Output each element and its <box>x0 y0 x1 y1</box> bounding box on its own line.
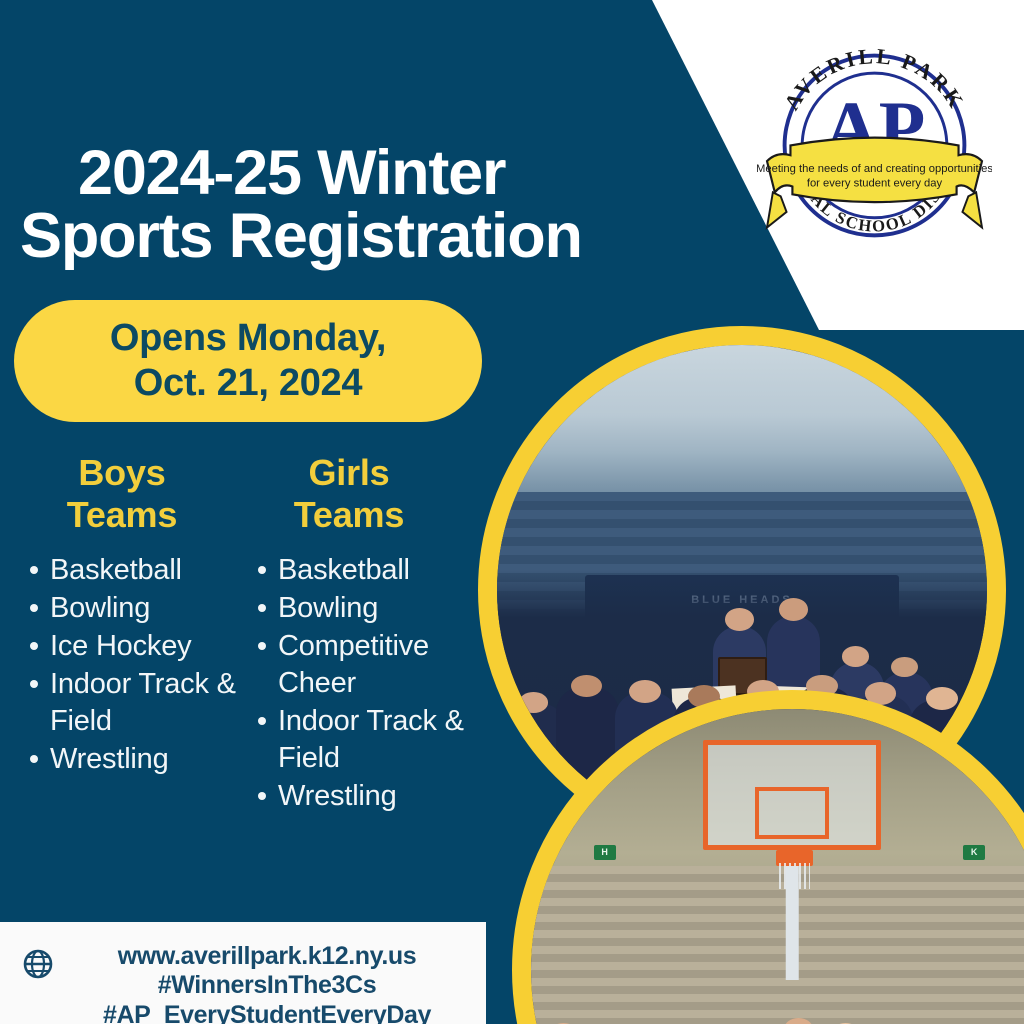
winter-sports-registration-poster: BLUE HEADS <box>0 0 1024 1024</box>
girls-team-members <box>531 980 1024 1024</box>
list-item: Basketball <box>250 552 470 589</box>
list-item: Bowling <box>22 590 236 627</box>
boys-heading-line1: Boys <box>22 452 222 494</box>
list-item: Competitive Cheer <box>250 628 470 702</box>
badge-line2: Oct. 21, 2024 <box>110 361 386 406</box>
list-item: Wrestling <box>250 778 470 815</box>
list-item: Wrestling <box>22 741 236 778</box>
exit-sign-h-letter: H <box>594 845 616 860</box>
exit-sign-k: K <box>963 845 985 860</box>
hashtag-winners: #WinnersInThe3Cs <box>56 971 478 1000</box>
girls-heading-line2: Teams <box>250 494 448 536</box>
website-url[interactable]: www.averillpark.k12.ny.us <box>56 942 478 971</box>
boys-teams-column: Boys Teams Basketball Bowling Ice Hockey… <box>0 452 236 816</box>
exit-sign-k-letter: K <box>963 845 985 860</box>
page-title-line1: 2024-25 Winter <box>78 138 505 208</box>
list-item: Indoor Track & Field <box>250 703 470 777</box>
girls-teams-heading: Girls Teams <box>250 452 470 536</box>
boys-teams-list: Basketball Bowling Ice Hockey Indoor Tra… <box>22 552 236 779</box>
page-title: 2024-25 Winter Sports Registration <box>78 142 728 267</box>
list-item: Indoor Track & Field <box>22 666 236 740</box>
teams-section: Boys Teams Basketball Bowling Ice Hockey… <box>0 452 470 816</box>
girls-basketball-team-photo: H K <box>512 690 1024 1024</box>
footer-bar: www.averillpark.k12.ny.us #WinnersInThe3… <box>0 922 486 1024</box>
basketball-backboard <box>703 740 880 850</box>
globe-icon <box>22 948 54 980</box>
girls-heading-line1: Girls <box>250 452 448 494</box>
hoop-support-pole <box>786 866 799 981</box>
logo-ribbon-line1: Meeting the needs of and creating opport… <box>757 163 992 175</box>
list-item: Basketball <box>22 552 236 589</box>
girls-teams-list: Basketball Bowling Competitive Cheer Ind… <box>250 552 470 816</box>
logo-ribbon-line2: for every student every day <box>807 178 943 190</box>
list-item: Bowling <box>250 590 470 627</box>
boys-heading-line2: Teams <box>22 494 222 536</box>
boys-teams-heading: Boys Teams <box>22 452 236 536</box>
exit-sign-h: H <box>594 845 616 860</box>
hashtag-every-student: #AP_EveryStudentEveryDay <box>56 1001 478 1024</box>
page-title-line2: Sports Registration <box>20 205 728 267</box>
district-seal-logo: AVERILL PARK CENTRAL SCHOOL DISTRICT AP … <box>757 36 992 251</box>
registration-opens-badge: Opens Monday, Oct. 21, 2024 <box>14 300 482 422</box>
list-item: Ice Hockey <box>22 628 236 665</box>
badge-line1: Opens Monday, <box>110 316 386 361</box>
girls-teams-column: Girls Teams Basketball Bowling Competiti… <box>236 452 470 816</box>
